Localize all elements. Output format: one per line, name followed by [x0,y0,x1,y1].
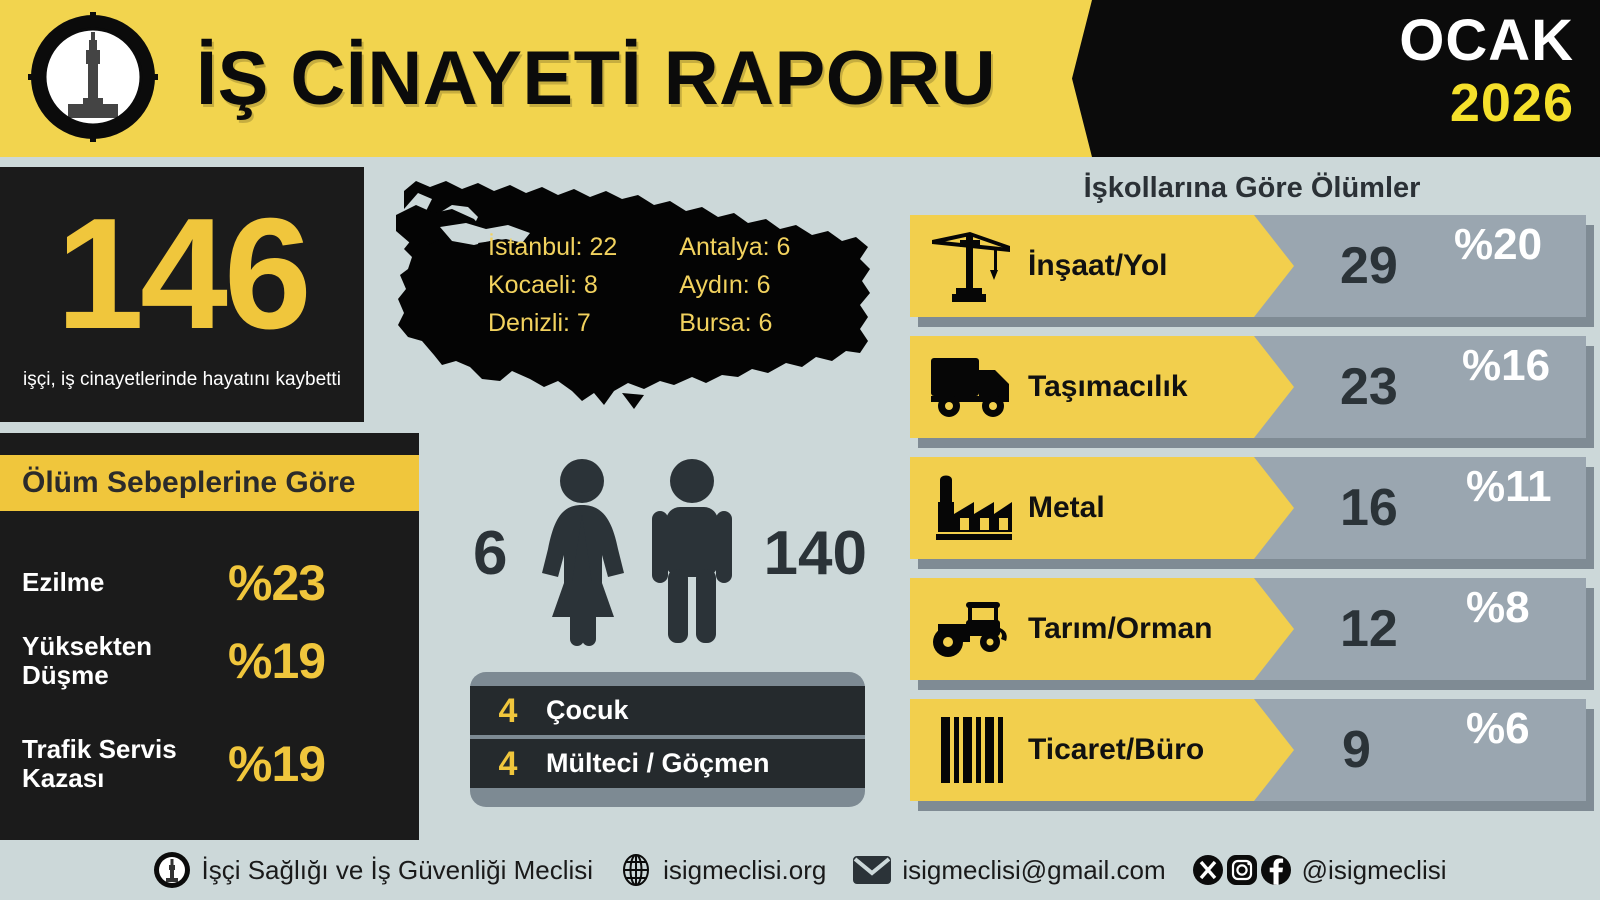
sector-percent: %6 [1466,707,1530,751]
sector-bar-row: İnşaat/Yol 29 %20 [910,215,1594,327]
svg-text:9: 9 [51,73,56,82]
facebook-icon[interactable] [1260,854,1292,886]
tractor-icon [924,586,1020,672]
sector-label: İnşaat/Yol [1028,215,1167,317]
svg-text:4: 4 [122,95,127,104]
man-figure-icon [638,457,746,652]
svg-text:2: 2 [122,51,127,60]
cause-percent: %23 [228,558,325,608]
cause-percent: %19 [228,636,325,686]
female-count: 6 [473,523,507,585]
svg-text:1: 1 [108,35,113,44]
sector-count: 23 [1340,336,1398,438]
gender-breakdown: 6 [470,448,870,660]
male-count: 140 [764,523,867,585]
total-deaths-caption: işçi, iş cinayetlerinde hayatını kaybett… [0,367,364,393]
footer-social[interactable]: @isigmeclisi [1192,854,1447,886]
infographic-poster: 12 3 6 9 1 2 4 5 7 8 10 11 [0,0,1600,900]
cause-row: Ezilme %23 [0,553,419,613]
sector-percent: %16 [1462,344,1550,388]
cause-label: Trafik Servis Kazası [0,735,228,793]
svg-text:8: 8 [56,95,61,104]
causes-panel: Ölüm Sebeplerine Göre Ezilme %23 Yüksekt… [0,433,419,840]
list-item: 4 Çocuk [470,686,865,735]
turkey-map: İstanbul: 22 Kocaeli: 8 Denizli: 7 Antal… [382,165,882,415]
sector-bar-row: Ticaret/Büro 9 %6 [910,699,1594,811]
sector-percent: %20 [1454,223,1542,267]
extra-label: Mülteci / Göçmen [546,748,770,779]
footer-social-handle: @isigmeclisi [1302,855,1447,886]
map-city-stat: Antalya: 6 [679,233,790,262]
report-year: 2026 [1399,76,1574,130]
sector-count: 29 [1340,215,1398,317]
sector-label: Taşımacılık [1028,336,1188,438]
extra-count: 4 [470,747,546,781]
report-period: OCAK 2026 [1399,12,1574,130]
woman-figure-icon [528,457,636,652]
extra-count: 4 [470,694,546,728]
factory-icon [924,465,1020,551]
list-item: 4 Mülteci / Göçmen [470,739,865,788]
extra-label: Çocuk [546,695,629,726]
map-city-stat: Aydın: 6 [679,271,790,300]
svg-text:10: 10 [54,51,64,60]
instagram-icon[interactable] [1226,854,1258,886]
sector-count: 16 [1340,457,1398,559]
sectors-title: İşkollarına Göre Ölümler [910,172,1594,205]
footer-org-name: İşçi Sağlığı ve İş Güvenliği Meclisi [201,855,593,886]
globe-icon [619,853,653,887]
total-deaths-number: 146 [0,195,364,353]
sector-label: Ticaret/Büro [1028,699,1204,801]
truck-icon [924,344,1020,430]
sector-bar-row: Taşımacılık 23 %16 [910,336,1594,448]
footer-org: İşçi Sağlığı ve İş Güvenliği Meclisi [153,851,593,889]
map-city-stat: Denizli: 7 [488,309,617,338]
footer-email[interactable]: isigmeclisi@gmail.com [852,855,1165,886]
cause-row: Trafik Servis Kazası %19 [0,705,419,823]
x-twitter-icon[interactable] [1192,854,1224,886]
sector-label: Tarım/Orman [1028,578,1213,680]
footer-website-text: isigmeclisi.org [663,855,826,886]
barcode-icon [924,707,1020,793]
footer-website[interactable]: isigmeclisi.org [619,853,826,887]
page-title: İŞ CİNAYETİ RAPORU [196,26,1056,130]
cause-label: Yüksekten Düşme [0,632,228,690]
sector-percent: %8 [1466,586,1530,630]
svg-text:11: 11 [69,35,79,44]
map-city-column-right: Antalya: 6 Aydın: 6 Bursa: 6 [679,233,790,338]
crane-icon [924,223,1020,309]
sector-percent: %11 [1466,465,1552,509]
report-month: OCAK [1399,12,1574,70]
sector-bar-row: Metal 16 %11 [910,457,1594,569]
sector-label: Metal [1028,457,1105,559]
map-city-stat: İstanbul: 22 [488,233,617,262]
map-city-stat: Kocaeli: 8 [488,271,617,300]
total-deaths-card: 146 işçi, iş cinayetlerinde hayatını kay… [0,167,364,422]
cause-label: Ezilme [0,568,228,597]
extra-stats-card: 4 Çocuk 4 Mülteci / Göçmen [470,672,865,807]
map-city-stats: İstanbul: 22 Kocaeli: 8 Denizli: 7 Antal… [488,233,790,338]
footer-email-text: isigmeclisi@gmail.com [902,855,1165,886]
sector-count: 12 [1340,578,1398,680]
causes-title: Ölüm Sebeplerine Göre [0,455,419,511]
map-city-column-left: İstanbul: 22 Kocaeli: 8 Denizli: 7 [488,233,617,338]
cause-percent: %19 [228,739,325,789]
isig-clock-tower-logo-icon: 12 3 6 9 1 2 4 5 7 8 10 11 [28,12,158,142]
footer: İşçi Sağlığı ve İş Güvenliği Meclisi isi… [0,840,1600,900]
header: 12 3 6 9 1 2 4 5 7 8 10 11 [0,0,1600,157]
cause-row: Yüksekten Düşme %19 [0,621,419,701]
svg-text:3: 3 [126,73,131,82]
map-city-stat: Bursa: 6 [679,309,790,338]
sector-count: 9 [1342,699,1371,801]
envelope-icon [852,855,892,885]
sector-bar-row: Tarım/Orman 12 %8 [910,578,1594,690]
isig-logo-icon [153,851,191,889]
